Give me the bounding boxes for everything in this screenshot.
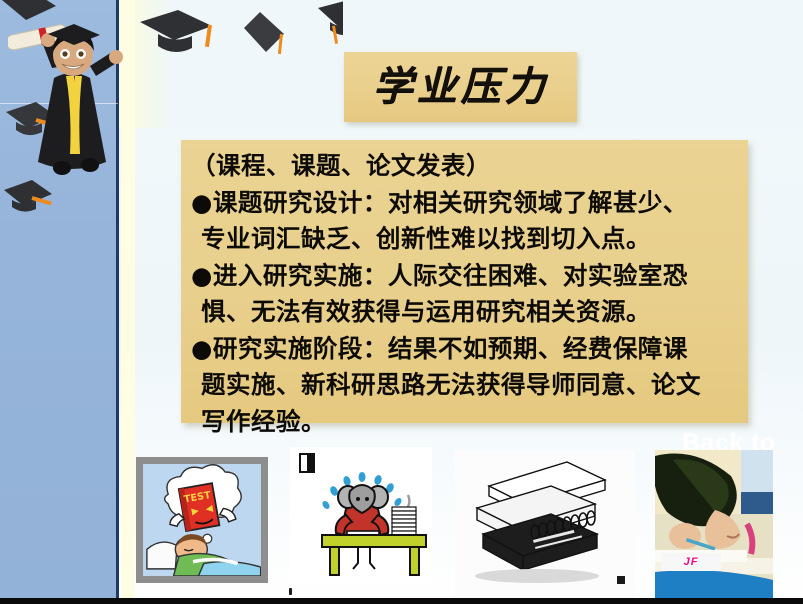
flying-caps-group [108,0,343,72]
mortarboard-cap [244,12,284,54]
nightmare-test-cartoon: TEST [143,464,261,576]
thumbnail-stressed-mouse[interactable] [290,447,432,584]
content-line: ●课题研究设计：对相关研究领域了解甚少、 [191,185,734,222]
stressed-mouse-cartoon [290,447,432,584]
page-title: 学业压力 [373,67,549,107]
slide-bottom-bar [0,598,803,604]
thumbnail-book-stack[interactable] [455,450,635,598]
mortarboard-cap [140,10,212,52]
content-line: 惧、无法有效获得与运用研究相关资源。 [191,294,734,331]
slide-title-plaque: 学业压力 [344,52,577,122]
graduate-student-illustration [8,8,133,233]
content-line: （课程、课题、论文发表） [191,148,734,185]
content-line: 题实施、新科研思路无法获得导师同意、论文 [191,367,734,404]
student-writing-photo [655,450,773,600]
jf-watermark-text: JF [684,556,699,568]
content-line: 专业词汇缺乏、创新性难以找到切入点。 [191,221,734,258]
thumbnail-student-writing[interactable]: JF [655,450,773,600]
content-line: ●进入研究实施：人际交往困难、对实验室恐 [191,258,734,295]
bottom-marker-dot [289,588,292,595]
mortarboard-cap [318,0,343,44]
content-line: 写作经验。 [191,404,734,441]
thumbnail-nightmare-test[interactable]: TEST [136,457,268,583]
slide-canvas: 学业压力 （课程、课题、论文发表） ●课题研究设计：对相关研究领域了解甚少、 专… [0,0,803,604]
jf-watermark-label: JF [661,553,721,571]
content-plaque: （课程、课题、论文发表） ●课题研究设计：对相关研究领域了解甚少、 专业词汇缺乏… [181,140,748,423]
content-line: ●研究实施阶段：结果不如预期、经费保障课 [191,331,734,368]
book-stack-photo [455,450,635,598]
